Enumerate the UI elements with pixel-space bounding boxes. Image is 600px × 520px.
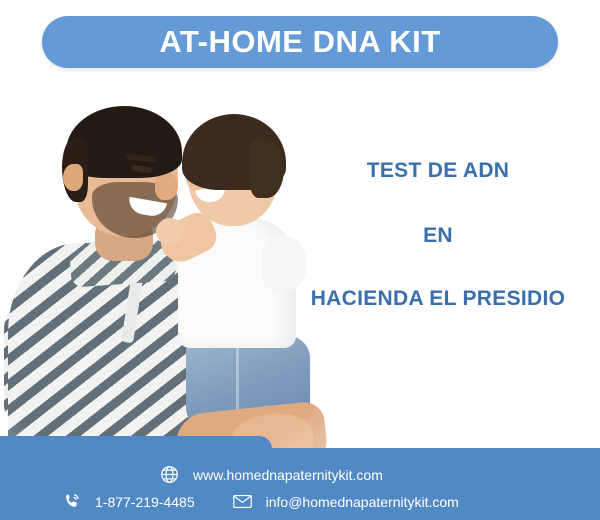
man-ear [63,164,83,191]
hero-photo [0,78,330,450]
footer-step-notch [0,436,272,462]
page-title: AT-HOME DNA KIT [159,24,440,60]
man-nose [155,172,178,200]
heading-block: TEST DE ADN EN HACIENDA EL PRESIDIO [282,160,594,309]
child-hand [156,218,184,245]
heading-line-location: HACIENDA EL PRESIDIO [282,288,594,309]
heading-line-en: EN [282,225,594,246]
phone-item: 1-877-219-4485 [62,492,233,511]
heading-line-test-de-adn: TEST DE ADN [282,160,594,181]
footer-bar: www.homednapaternitykit.com 1-877-219-44… [0,448,600,520]
email-item: info@homednapaternitykit.com [233,492,459,511]
phone-icon [62,492,81,511]
email-text[interactable]: info@homednapaternitykit.com [266,494,459,510]
footer-contact-row: 1-877-219-4485 info@homednapaternitykit.… [62,492,459,511]
child-hair-side [250,140,284,198]
website-text[interactable]: www.homednapaternitykit.com [193,467,383,483]
child-jeans-seam [236,344,239,414]
globe-icon [160,465,179,484]
header-banner: AT-HOME DNA KIT [42,16,558,68]
footer-website-row: www.homednapaternitykit.com [160,465,383,484]
phone-number-text[interactable]: 1-877-219-4485 [95,494,195,510]
envelope-icon [233,492,252,511]
